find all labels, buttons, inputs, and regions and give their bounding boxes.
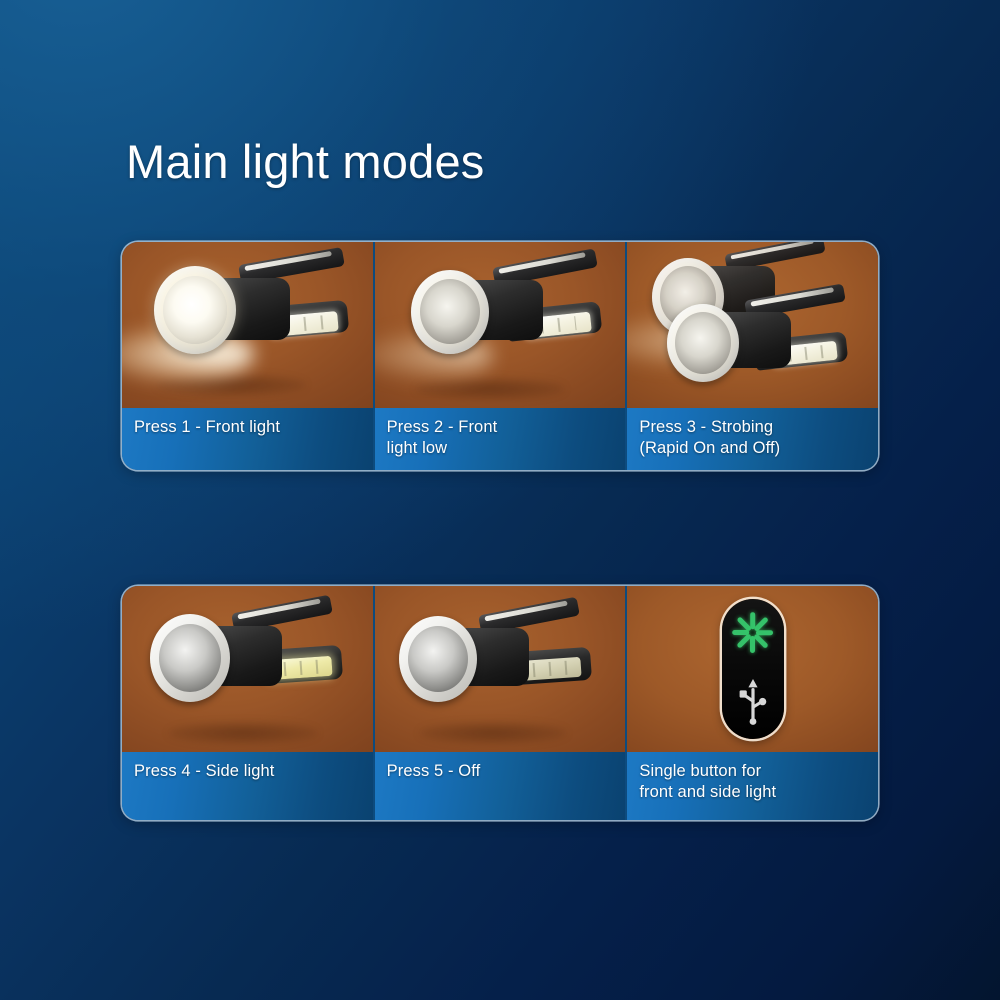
- flashlight-photo-front-light-high: [122, 242, 373, 408]
- flashlight-lens: [408, 626, 468, 692]
- caption-line: Press 2 - Front: [387, 417, 626, 438]
- shadow: [168, 722, 318, 744]
- mode-panel-single-button[interactable]: Single button for front and side light: [627, 586, 878, 820]
- shadow: [419, 722, 567, 744]
- panel-caption: Press 3 - Strobing (Rapid On and Off): [627, 408, 878, 470]
- caption-line: Single button for: [639, 761, 878, 782]
- caption-line: Press 3 - Strobing: [639, 417, 878, 438]
- light-modes-card-row-2: Press 4 - Side light Press 5 - Off: [122, 586, 878, 820]
- flashlight-lens: [159, 624, 221, 692]
- caption-line: front and side light: [639, 782, 878, 803]
- mode-panel-strobing[interactable]: Press 3 - Strobing (Rapid On and Off): [627, 242, 878, 470]
- flashlight-photo-front-light-low: [375, 242, 626, 408]
- caption-line: Press 4 - Side light: [134, 761, 373, 782]
- power-button-usb-icon[interactable]: [722, 599, 784, 739]
- flashlight-photo-side-light: [122, 586, 373, 752]
- caption-line: Press 5 - Off: [387, 761, 626, 782]
- usb-icon: [736, 679, 770, 725]
- panel-caption: Press 2 - Front light low: [375, 408, 626, 470]
- page-title: Main light modes: [126, 134, 484, 189]
- flashlight-lens: [163, 276, 227, 344]
- flashlight-lens: [675, 312, 731, 374]
- mode-panel-off[interactable]: Press 5 - Off: [375, 586, 628, 820]
- mode-panel-front-light-high[interactable]: Press 1 - Front light: [122, 242, 375, 470]
- flashlight-lens: [420, 279, 480, 344]
- light-modes-card-row-1: Press 1 - Front light Press 2 - Front li…: [122, 242, 878, 470]
- panel-caption: Press 1 - Front light: [122, 408, 373, 470]
- flashlight-photo-strobing: [627, 242, 878, 408]
- shadow: [415, 378, 565, 400]
- flashlight-photo-off: [375, 586, 626, 752]
- caption-line: light low: [387, 438, 626, 459]
- caption-line: (Rapid On and Off): [639, 438, 878, 459]
- starburst-indicator-icon: [730, 610, 776, 656]
- panel-caption: Single button for front and side light: [627, 752, 878, 820]
- mode-panel-front-light-low[interactable]: Press 2 - Front light low: [375, 242, 628, 470]
- panel-caption: Press 4 - Side light: [122, 752, 373, 820]
- button-photo: [627, 586, 878, 752]
- mode-panel-side-light[interactable]: Press 4 - Side light: [122, 586, 375, 820]
- caption-line: Press 1 - Front light: [134, 417, 373, 438]
- panel-caption: Press 5 - Off: [375, 752, 626, 820]
